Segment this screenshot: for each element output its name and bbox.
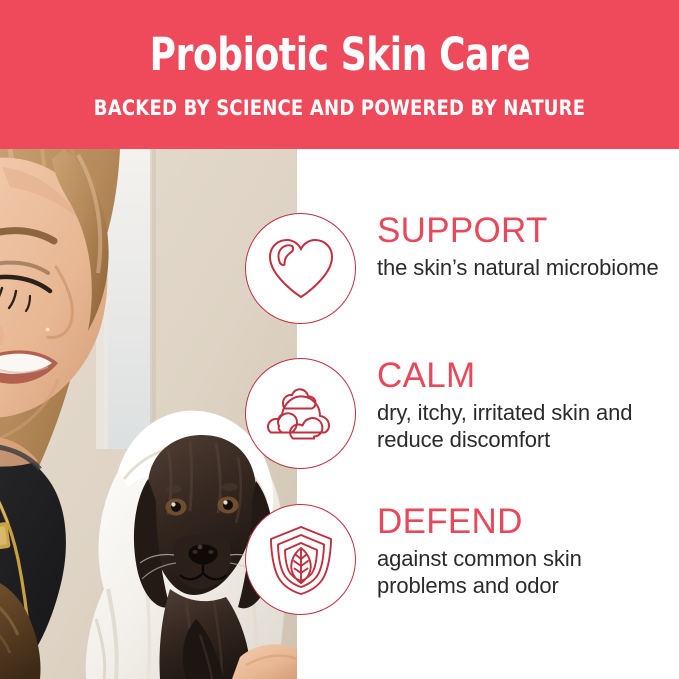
benefit-item-support: SUPPORT the skin’s natural microbiome bbox=[0, 213, 679, 325]
benefit-item-calm: CALM dry, itchy, irritated skin and redu… bbox=[0, 358, 679, 470]
benefit-text-support: SUPPORT the skin’s natural microbiome bbox=[377, 213, 677, 281]
benefit-item-defend: DEFEND against common skin problems and … bbox=[0, 504, 679, 616]
benefit-text-defend: DEFEND against common skin problems and … bbox=[377, 504, 677, 599]
header-banner: Probiotic Skin Care BACKED BY SCIENCE AN… bbox=[0, 0, 679, 149]
benefit-description: the skin’s natural microbiome bbox=[377, 254, 677, 281]
product-infographic: Probiotic Skin Care BACKED BY SCIENCE AN… bbox=[0, 0, 679, 679]
page-subtitle: BACKED BY SCIENCE AND POWERED BY NATURE bbox=[94, 96, 585, 121]
benefit-title: SUPPORT bbox=[377, 213, 677, 249]
benefit-description: dry, itchy, irritated skin and reduce di… bbox=[377, 399, 677, 453]
benefit-description: against common skin problems and odor bbox=[377, 545, 677, 599]
clouds-icon bbox=[245, 358, 356, 469]
heart-icon bbox=[245, 213, 356, 324]
benefit-title: DEFEND bbox=[377, 504, 677, 540]
benefit-text-calm: CALM dry, itchy, irritated skin and redu… bbox=[377, 358, 677, 453]
benefit-title: CALM bbox=[377, 358, 677, 394]
shield-leaf-icon bbox=[245, 504, 356, 615]
page-title: Probiotic Skin Care bbox=[149, 32, 530, 78]
